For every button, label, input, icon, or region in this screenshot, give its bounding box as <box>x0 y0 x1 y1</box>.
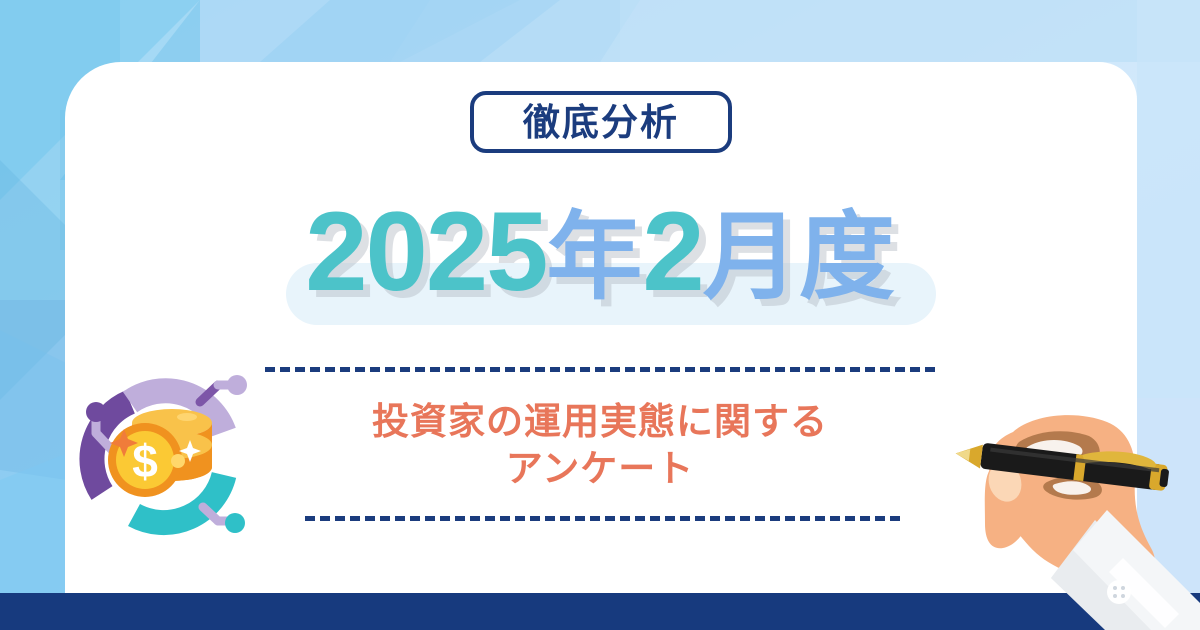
page-title: 2025年2月度 <box>0 196 1200 308</box>
headline-segment-getsudo: 月度 <box>703 204 895 311</box>
subtitle: 投資家の運用実態に関する アンケート <box>240 398 960 493</box>
subtitle-line-1: 投資家の運用実態に関する <box>240 398 960 445</box>
dashed-divider-top <box>265 367 935 372</box>
poster-canvas: 徹底分析 2025年2月度 投資家の運用実態に関する アンケート <box>0 0 1200 630</box>
headline-segment-year-number: 2025 <box>305 189 546 314</box>
subtitle-line-2: アンケート <box>240 445 960 492</box>
dashed-divider-bottom <box>305 516 900 521</box>
coin-donut-chart-icon: $ <box>72 355 254 543</box>
headline-segment-nen: 年 <box>546 204 642 311</box>
badge-text: 徹底分析 <box>523 104 679 141</box>
headline-segment-month-number: 2 <box>642 189 702 314</box>
footer-bar <box>0 593 1200 630</box>
badge-label: 徹底分析 <box>470 91 732 153</box>
